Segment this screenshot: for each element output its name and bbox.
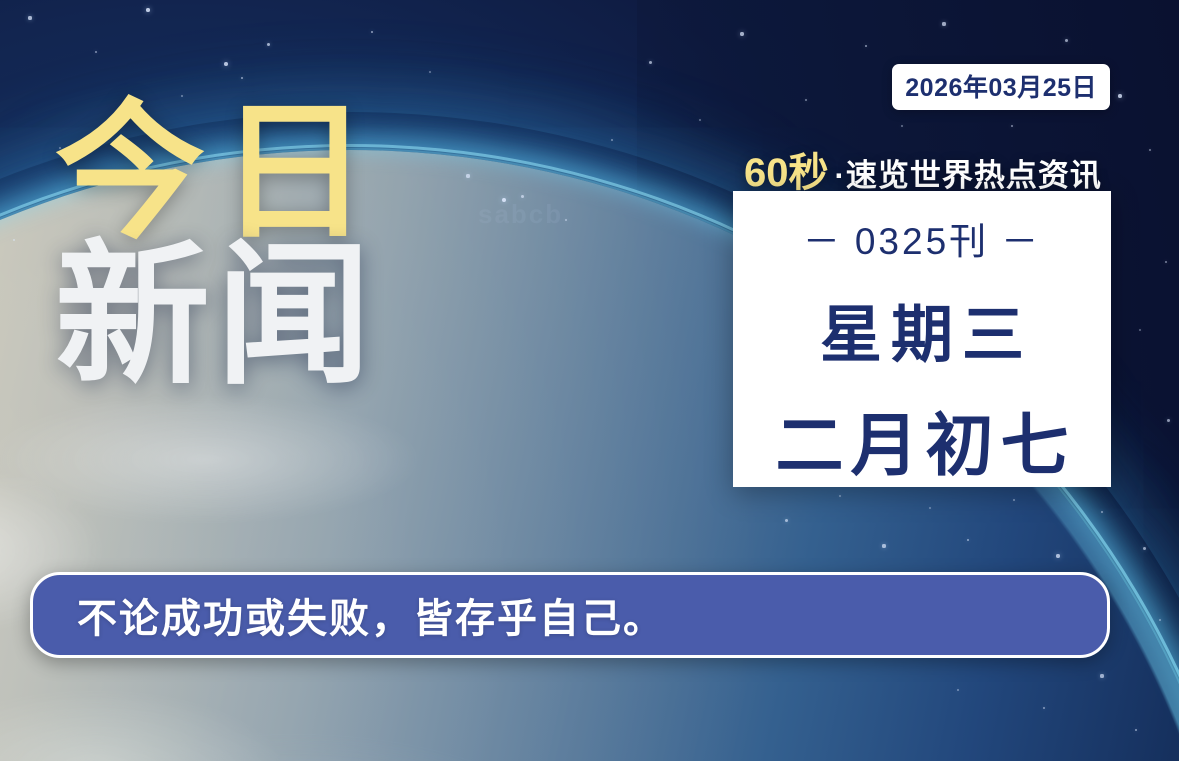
weekday-label: 星期三 <box>811 284 1033 374</box>
headline-line-1: 今日 <box>55 96 383 249</box>
tagline-rest: ·速览世界热点资讯 <box>835 158 1102 193</box>
lunar-date-label: 二月初七 <box>768 390 1075 489</box>
poster-headline: 今日 新闻 <box>55 96 383 395</box>
watermark-text: sabcb <box>478 199 563 230</box>
date-badge: 2026年03月25日 <box>892 64 1110 110</box>
tagline-highlight: 60秒 <box>744 151 829 195</box>
issue-info-card: －0325刊－ 星期三 二月初七 <box>733 191 1111 487</box>
headline-line-2: 新闻 <box>55 237 383 395</box>
quote-text: 不论成功或失败，皆存乎自己。 <box>33 586 665 644</box>
news-card-poster: sabcb 今日 新闻 2026年03月25日 60秒·速览世界热点资讯 －03… <box>0 0 1179 761</box>
issue-number: 0325刊 <box>855 221 989 262</box>
issue-dash-left: － <box>791 221 855 262</box>
tagline: 60秒·速览世界热点资讯 <box>744 140 1102 198</box>
quote-bar: 不论成功或失败，皆存乎自己。 <box>30 572 1110 658</box>
issue-number-row: －0325刊－ <box>791 211 1053 265</box>
issue-dash-right: － <box>989 221 1053 262</box>
